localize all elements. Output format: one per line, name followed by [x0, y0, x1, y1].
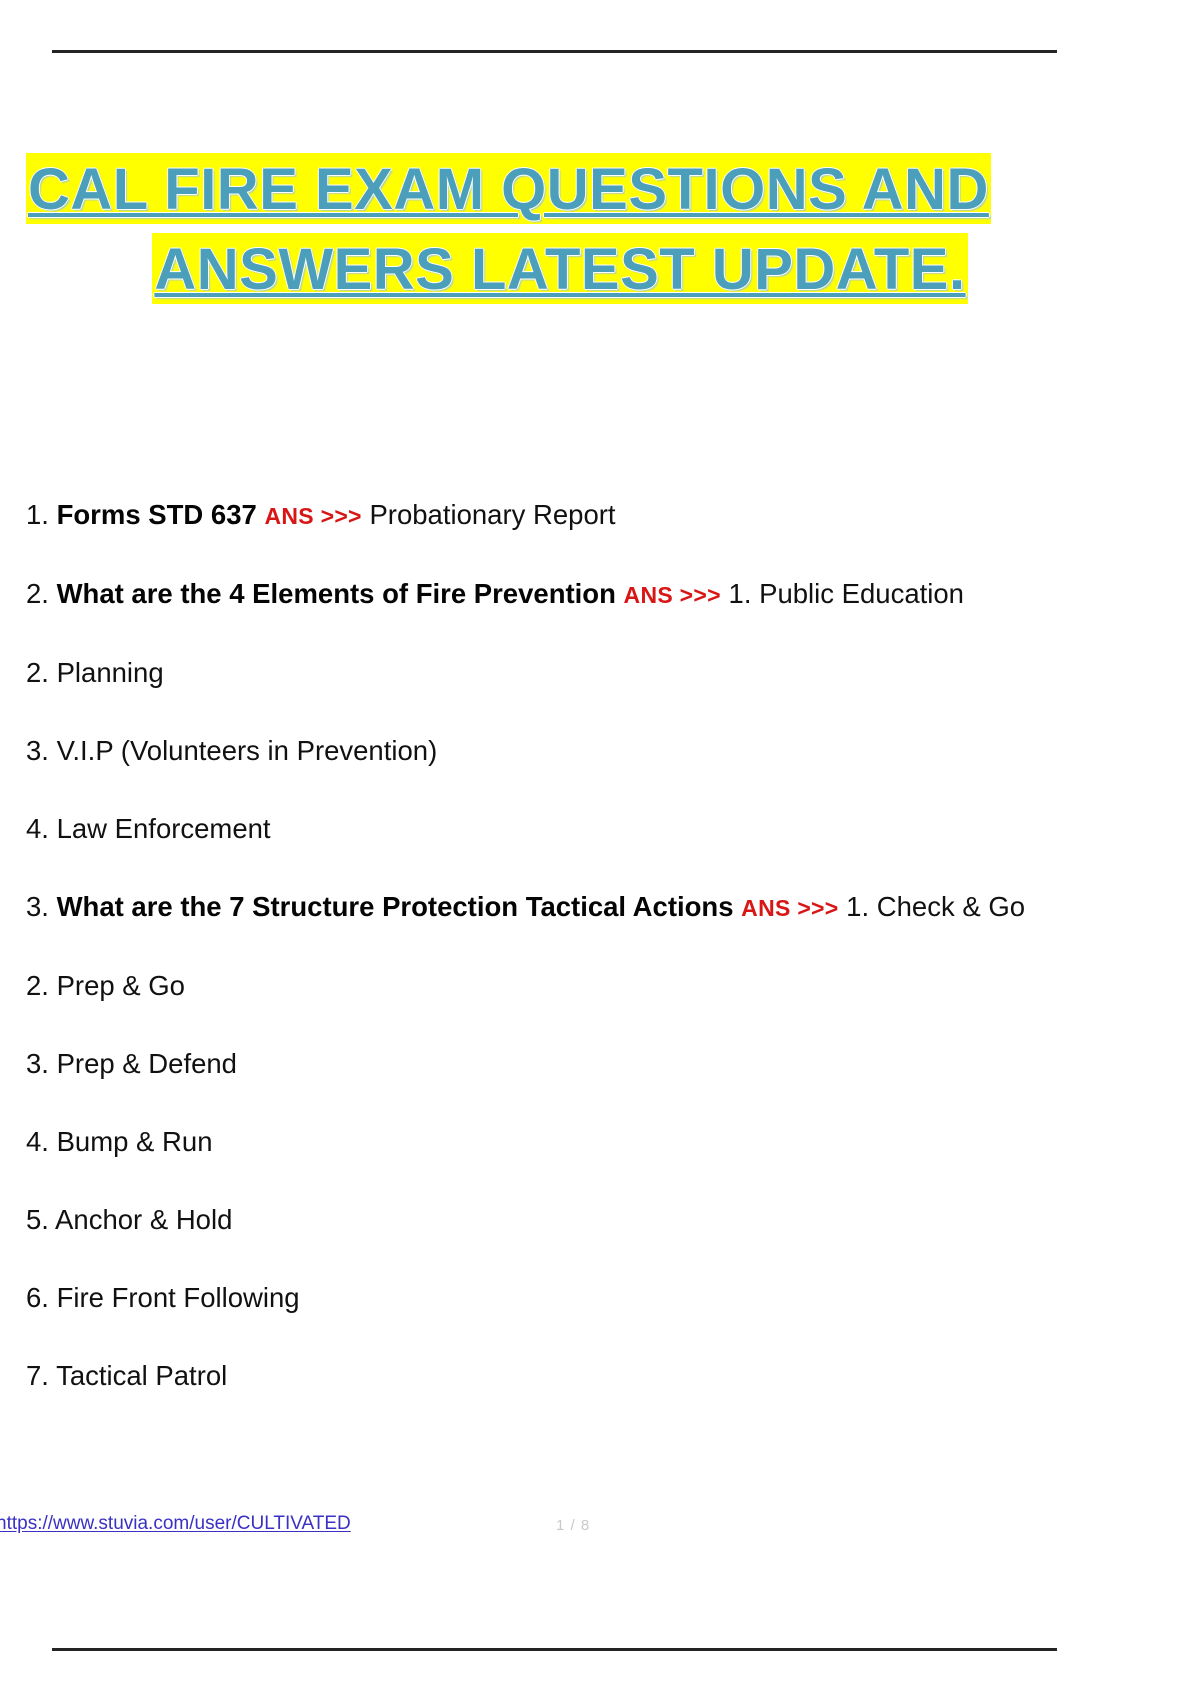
- qa-item-3-ans-tag: ANS >>>: [741, 895, 838, 921]
- answer-sub-item: 6. Fire Front Following: [26, 1281, 1196, 1315]
- qa-item-2-question: What are the 4 Elements of Fire Preventi…: [57, 578, 616, 609]
- answer-sub-item: 4. Bump & Run: [26, 1125, 1196, 1159]
- page-footer: https://www.stuvia.com/user/CULTIVATED 1…: [0, 1512, 1120, 1546]
- qa-item-1-question: Forms STD 637: [57, 499, 257, 530]
- qa-content: 1. Forms STD 637 ANS >>> Probationary Re…: [26, 498, 1196, 1437]
- qa-item-2-number: 2.: [26, 578, 49, 609]
- qa-item-3-question: What are the 7 Structure Protection Tact…: [57, 891, 734, 922]
- title-line-1: CAL FIRE EXAM QUESTIONS AND: [16, 150, 1120, 230]
- answer-sub-item: 3. V.I.P (Volunteers in Prevention): [26, 734, 1196, 768]
- answer-sub-item: 4. Law Enforcement: [26, 812, 1196, 846]
- title-line-2: ANSWERS LATEST UPDATE.: [0, 230, 1120, 310]
- footer-divider-rule: [52, 1648, 1057, 1651]
- answer-sub-item: 3. Prep & Defend: [26, 1047, 1196, 1081]
- stuvia-profile-link[interactable]: https://www.stuvia.com/user/CULTIVATED: [0, 1512, 351, 1536]
- qa-item-3-number: 3.: [26, 891, 49, 922]
- document-page: CAL FIRE EXAM QUESTIONS AND ANSWERS LATE…: [0, 0, 1200, 1700]
- qa-item-2: 2. What are the 4 Elements of Fire Preve…: [26, 577, 1196, 612]
- answer-sub-item: 7. Tactical Patrol: [26, 1359, 1196, 1393]
- document-title: CAL FIRE EXAM QUESTIONS AND ANSWERS LATE…: [0, 150, 1120, 310]
- title-line-2-text: ANSWERS LATEST UPDATE.: [152, 233, 967, 304]
- qa-item-1-number: 1.: [26, 499, 49, 530]
- answer-sub-item: 2. Planning: [26, 656, 1196, 690]
- qa-item-1-ans-tag: ANS >>>: [264, 503, 361, 529]
- title-line-1-text: CAL FIRE EXAM QUESTIONS AND: [26, 153, 991, 224]
- qa-item-2-ans-tag: ANS >>>: [624, 582, 721, 608]
- answer-sub-item: 2. Prep & Go: [26, 969, 1196, 1003]
- answer-sub-item: 5. Anchor & Hold: [26, 1203, 1196, 1237]
- qa-item-1-answer: Probationary Report: [369, 499, 615, 530]
- qa-item-1: 1. Forms STD 637 ANS >>> Probationary Re…: [26, 498, 1196, 533]
- qa-item-3-answer: 1. Check & Go: [846, 891, 1025, 922]
- qa-item-3: 3. What are the 7 Structure Protection T…: [26, 890, 1196, 925]
- qa-item-2-answer: 1. Public Education: [729, 578, 964, 609]
- page-indicator: 1 / 8: [556, 1516, 590, 1536]
- header-divider-rule: [52, 50, 1057, 53]
